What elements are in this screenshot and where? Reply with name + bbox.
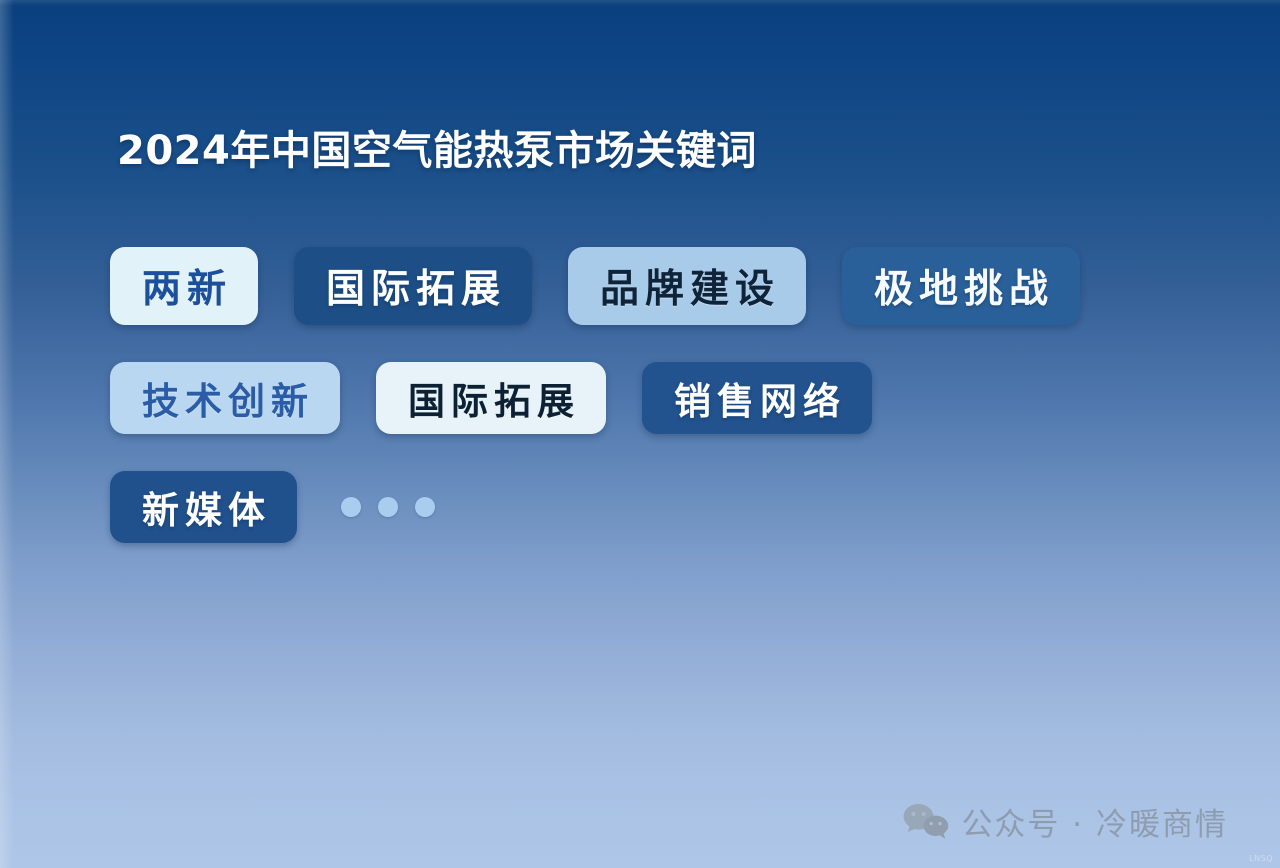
watermark-label: 公众号 · 冷暖商情 bbox=[961, 799, 1228, 844]
more-dot bbox=[378, 497, 398, 517]
more-dot bbox=[415, 497, 435, 517]
more-dot bbox=[341, 497, 361, 517]
corner-mark: LNSQ bbox=[1249, 854, 1273, 863]
more-indicator bbox=[341, 497, 435, 517]
left-edge-highlight bbox=[0, 0, 14, 868]
keyword-tag-guojituozhan-1[interactable]: 国际拓展 bbox=[294, 247, 532, 325]
page-title: 2024年中国空气能热泵市场关键词 bbox=[117, 118, 757, 176]
wechat-icon bbox=[903, 802, 949, 842]
slide-canvas: 2024年中国空气能热泵市场关键词 两新 国际拓展 品牌建设 极地挑战 技术创新… bbox=[0, 0, 1280, 868]
keyword-tag-jishuchuangxin[interactable]: 技术创新 bbox=[110, 362, 340, 434]
keyword-row-2: 技术创新 国际拓展 销售网络 bbox=[110, 362, 1220, 434]
top-edge-highlight bbox=[0, 0, 1280, 6]
keyword-row-3: 新媒体 bbox=[110, 471, 1220, 543]
keyword-row-1: 两新 国际拓展 品牌建设 极地挑战 bbox=[110, 247, 1220, 325]
keyword-tag-liangxin[interactable]: 两新 bbox=[110, 247, 258, 325]
watermark: 公众号 · 冷暖商情 bbox=[903, 799, 1228, 844]
keyword-tag-guojituozhan-2[interactable]: 国际拓展 bbox=[376, 362, 606, 434]
keyword-tag-groups: 两新 国际拓展 品牌建设 极地挑战 技术创新 国际拓展 销售网络 新媒体 bbox=[110, 247, 1220, 543]
keyword-tag-xinmeiti[interactable]: 新媒体 bbox=[110, 471, 297, 543]
keyword-tag-jidetiaozhan[interactable]: 极地挑战 bbox=[842, 247, 1080, 325]
keyword-tag-xiaoshouwangluo[interactable]: 销售网络 bbox=[642, 362, 872, 434]
keyword-tag-pinpaijianshe[interactable]: 品牌建设 bbox=[568, 247, 806, 325]
